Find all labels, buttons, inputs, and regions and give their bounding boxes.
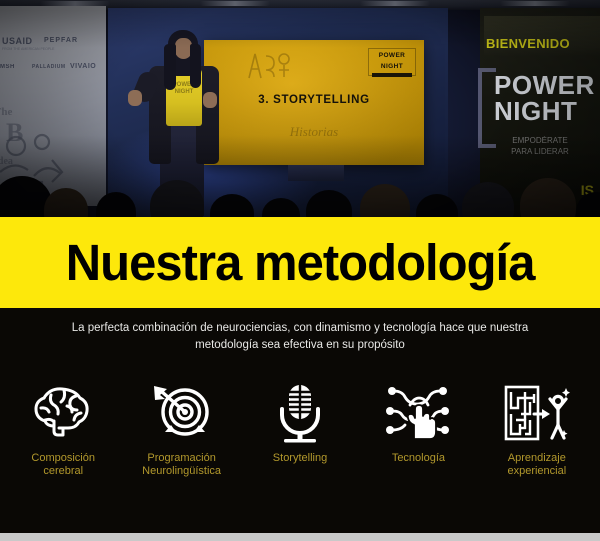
slide-logo-line1: POWER <box>369 52 415 60</box>
slide-ghost-text: Historias <box>204 124 424 140</box>
banner-tagline-line2: PARA LIDERAR <box>511 147 569 156</box>
methodology-item-tecnologia[interactable]: Tecnología <box>359 380 477 465</box>
sponsor-logo-vivaio: VIVAIO <box>70 63 96 70</box>
title-band: Nuestra metodología <box>0 217 600 308</box>
sponsor-logo-palladium: PALLADIUM <box>32 64 66 70</box>
sponsor-logo-msh: MSH <box>0 64 15 70</box>
methodology-label: Storytelling <box>273 452 327 465</box>
methodology-item-pnl[interactable]: Programación Neurolingüística <box>122 380 240 478</box>
banner-brand-line1: POWER <box>478 72 600 98</box>
target-arrow-icon <box>148 380 216 446</box>
sponsor-logo-pepfar: PEPFAR <box>44 37 78 44</box>
methodology-icon-row: Composición cerebral <box>0 380 600 478</box>
methodology-label: Aprendizaje experiencial <box>507 452 566 478</box>
banner-brand-line2: NIGHT <box>478 98 600 124</box>
methodology-label: Programación Neurolingüística <box>142 452 221 478</box>
methodology-item-aprendizaje[interactable]: Aprendizaje experiencial <box>478 380 596 478</box>
sponsor-logo-usaid-sub: FROM THE AMERICAN PEOPLE <box>2 47 54 51</box>
methodology-item-brain[interactable]: Composición cerebral <box>4 380 122 478</box>
microphone-icon <box>266 380 334 446</box>
page-title: Nuestra metodología <box>66 235 535 291</box>
methodology-item-storytelling[interactable]: Storytelling <box>241 380 359 465</box>
ceiling-light <box>360 1 430 6</box>
banner-tagline-line1: EMPODÉRATE <box>512 136 567 145</box>
sponsor-logo-usaid: USAID <box>2 36 33 46</box>
hero-photo: USAID FROM THE AMERICAN PEOPLE PEPFAR MS… <box>0 0 600 218</box>
slide-logo-line2: NIGHT <box>369 63 415 71</box>
banner-greeting: BIENVENIDO <box>476 36 600 51</box>
maze-person-icon <box>503 380 571 446</box>
subtitle: La perfecta combinación de neurociencias… <box>40 320 560 354</box>
slide-powernight-logo: POWER NIGHT <box>368 48 416 76</box>
bottom-strip <box>0 533 600 541</box>
screen-stand <box>288 165 344 181</box>
methodology-label: Composición cerebral <box>31 452 95 478</box>
speaker-hair-right <box>190 44 201 88</box>
methodology-section: La perfecta combinación de neurociencias… <box>0 308 600 533</box>
slide-logo-bar <box>372 73 412 77</box>
screen-doodle <box>246 48 292 84</box>
banner-tagline: EMPODÉRATE PARA LIDERAR <box>478 135 600 157</box>
brain-icon <box>29 380 97 446</box>
speaker-hand-right <box>203 92 217 108</box>
slide-root: USAID FROM THE AMERICAN PEOPLE PEPFAR MS… <box>0 0 600 541</box>
ceiling-light <box>500 1 570 6</box>
methodology-label: Tecnología <box>392 452 445 465</box>
touch-network-icon <box>384 380 452 446</box>
speaker-hair-left <box>164 44 176 90</box>
speaker-hand-left <box>128 90 142 106</box>
projector-screen: 3. STORYTELLING Historias POWER NIGHT <box>204 40 424 165</box>
subtitle-line1: La perfecta combinación de neurociencias… <box>72 322 487 334</box>
ceiling-light <box>200 1 270 6</box>
slide-title: 3. STORYTELLING <box>204 94 424 106</box>
